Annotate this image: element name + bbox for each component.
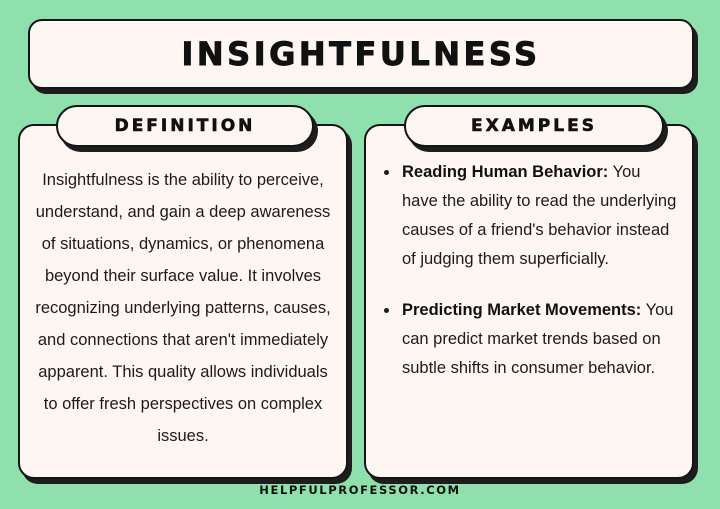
- title-banner: Insightfulness: [28, 19, 694, 89]
- page-title: Insightfulness: [181, 38, 540, 70]
- definition-card: Insightfulness is the ability to perceiv…: [18, 124, 348, 479]
- section-pill-examples: Examples: [404, 105, 664, 147]
- bullet-dot-icon: [384, 308, 389, 313]
- list-item: Predicting Market Movements: You can pre…: [380, 296, 680, 383]
- example-title: Reading Human Behavior:: [402, 163, 608, 181]
- examples-list: Reading Human Behavior: You have the abi…: [380, 158, 680, 383]
- example-title: Predicting Market Movements:: [402, 301, 641, 319]
- infographic-poster: Insightfulness Insightfulness is the abi…: [0, 0, 720, 509]
- section-pill-examples-label: Examples: [471, 118, 597, 135]
- section-pill-definition-label: Definition: [115, 118, 256, 135]
- bullet-dot-icon: [384, 170, 389, 175]
- examples-card: Reading Human Behavior: You have the abi…: [364, 124, 694, 479]
- footer: HelpfulProfessor.com: [0, 481, 720, 499]
- section-pill-definition: Definition: [56, 105, 314, 147]
- list-item: Reading Human Behavior: You have the abi…: [380, 158, 680, 274]
- footer-attribution: HelpfulProfessor.com: [259, 483, 460, 497]
- definition-text: Insightfulness is the ability to perceiv…: [32, 164, 334, 452]
